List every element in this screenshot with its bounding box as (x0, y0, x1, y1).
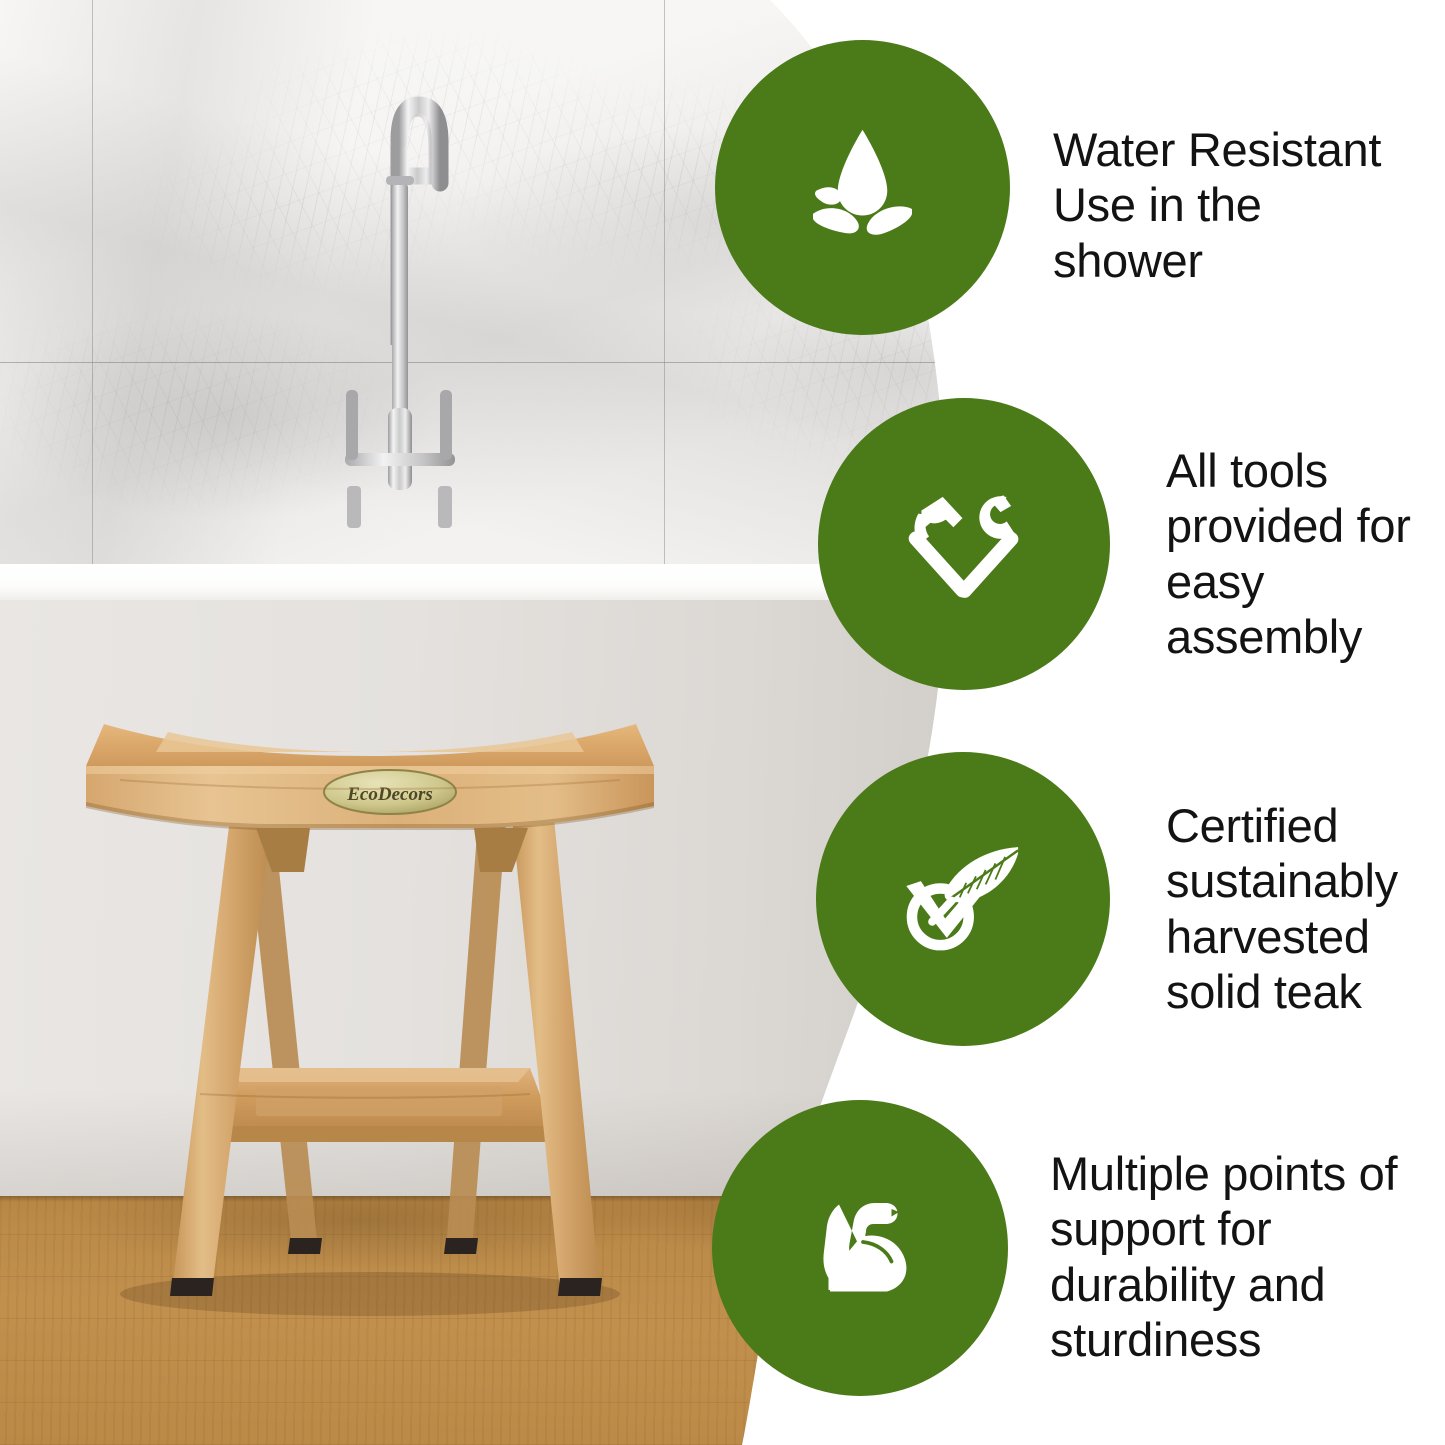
leaf-check-icon (882, 818, 1044, 980)
feature-badge-tools-provided[interactable] (818, 398, 1110, 690)
teak-shower-stool: EcoDecors (60, 690, 680, 1330)
feature-badge-water-resistant[interactable] (715, 40, 1010, 335)
infographic-canvas: EcoDecors Water Resistant Use in the sho… (0, 0, 1445, 1445)
water-drop-splash-icon (780, 105, 945, 270)
flexed-bicep-icon (785, 1173, 935, 1323)
feature-badge-certified-teak[interactable] (816, 752, 1110, 1046)
feature-badge-durability[interactable] (712, 1100, 1008, 1396)
feature-label-water-resistant: Water Resistant Use in the shower (1053, 122, 1413, 288)
feature-label-certified-teak: Certified sustainably harvested solid te… (1166, 798, 1438, 1020)
feature-label-durability: Multiple points of support for durabilit… (1050, 1146, 1420, 1368)
feature-label-tools-provided: All tools provided for easy assembly (1166, 443, 1436, 665)
svg-text:EcoDecors: EcoDecors (346, 784, 432, 805)
ecodecors-brand-plaque: EcoDecors (324, 770, 456, 814)
hammer-wrench-icon (888, 468, 1040, 620)
